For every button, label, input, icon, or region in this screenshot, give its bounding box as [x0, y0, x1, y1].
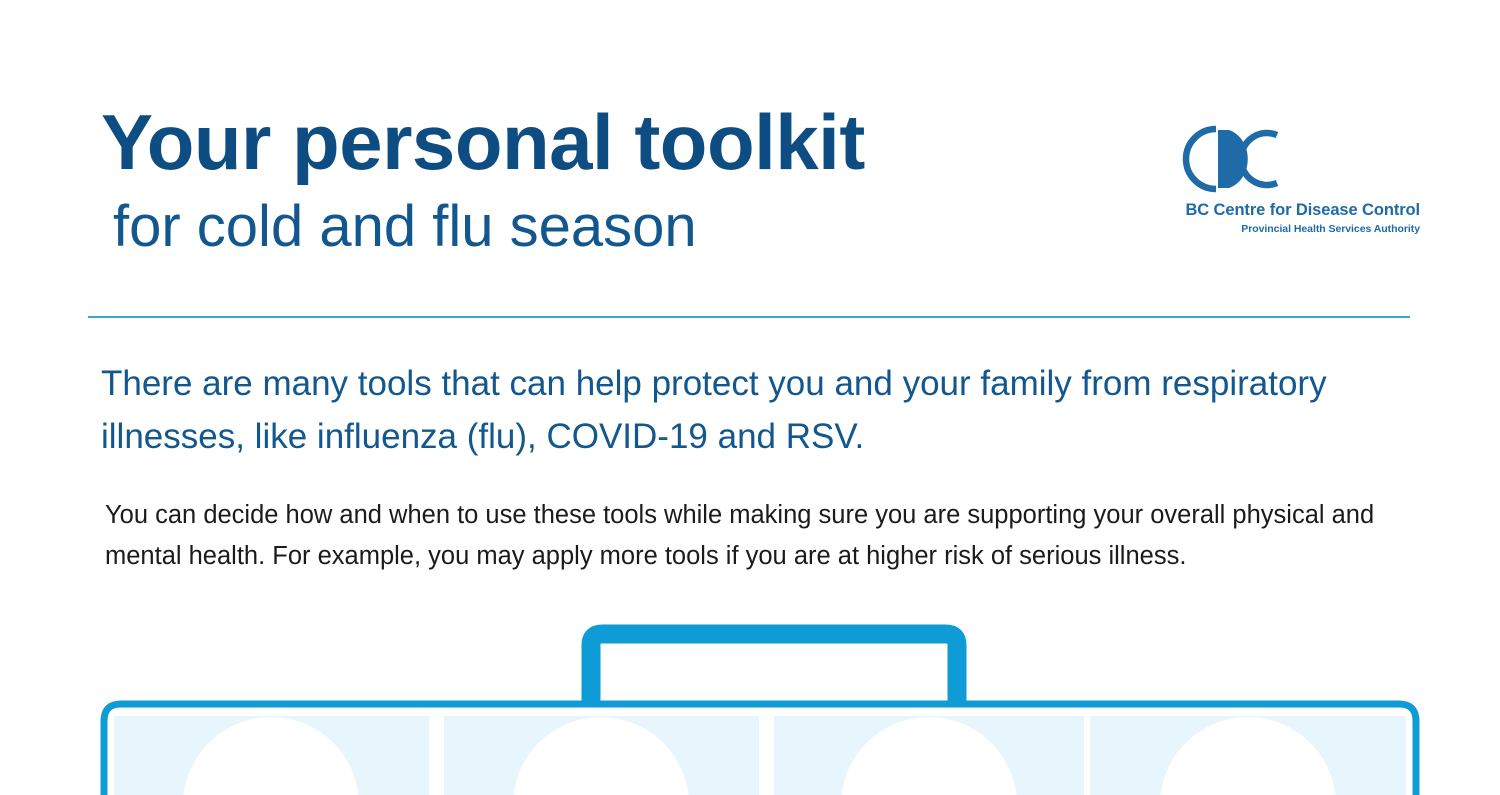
- page-subtitle: for cold and flu season: [113, 198, 1101, 256]
- toolbox-compartment: [114, 716, 429, 795]
- toolbox-compartment: [1090, 716, 1406, 795]
- toolbox-compartment: [444, 716, 759, 795]
- header-divider: [88, 316, 1410, 318]
- bccdc-cdc-monogram-icon: [1182, 125, 1292, 193]
- toolbox-compartment: [774, 716, 1084, 795]
- logo-organization-name: BC Centre for Disease Control: [1140, 201, 1420, 220]
- title-block: Your personal toolkit for cold and flu s…: [101, 104, 1101, 256]
- page-header: Your personal toolkit for cold and flu s…: [0, 0, 1500, 320]
- support-paragraph: You can decide how and when to use these…: [105, 495, 1405, 578]
- page-title: Your personal toolkit: [101, 104, 1101, 180]
- toolbox-illustration: [90, 620, 1430, 795]
- bccdc-logo: BC Centre for Disease Control Provincial…: [1140, 125, 1420, 240]
- logo-authority-name: Provincial Health Services Authority: [1140, 223, 1420, 235]
- lead-paragraph: There are many tools that can help prote…: [101, 357, 1391, 463]
